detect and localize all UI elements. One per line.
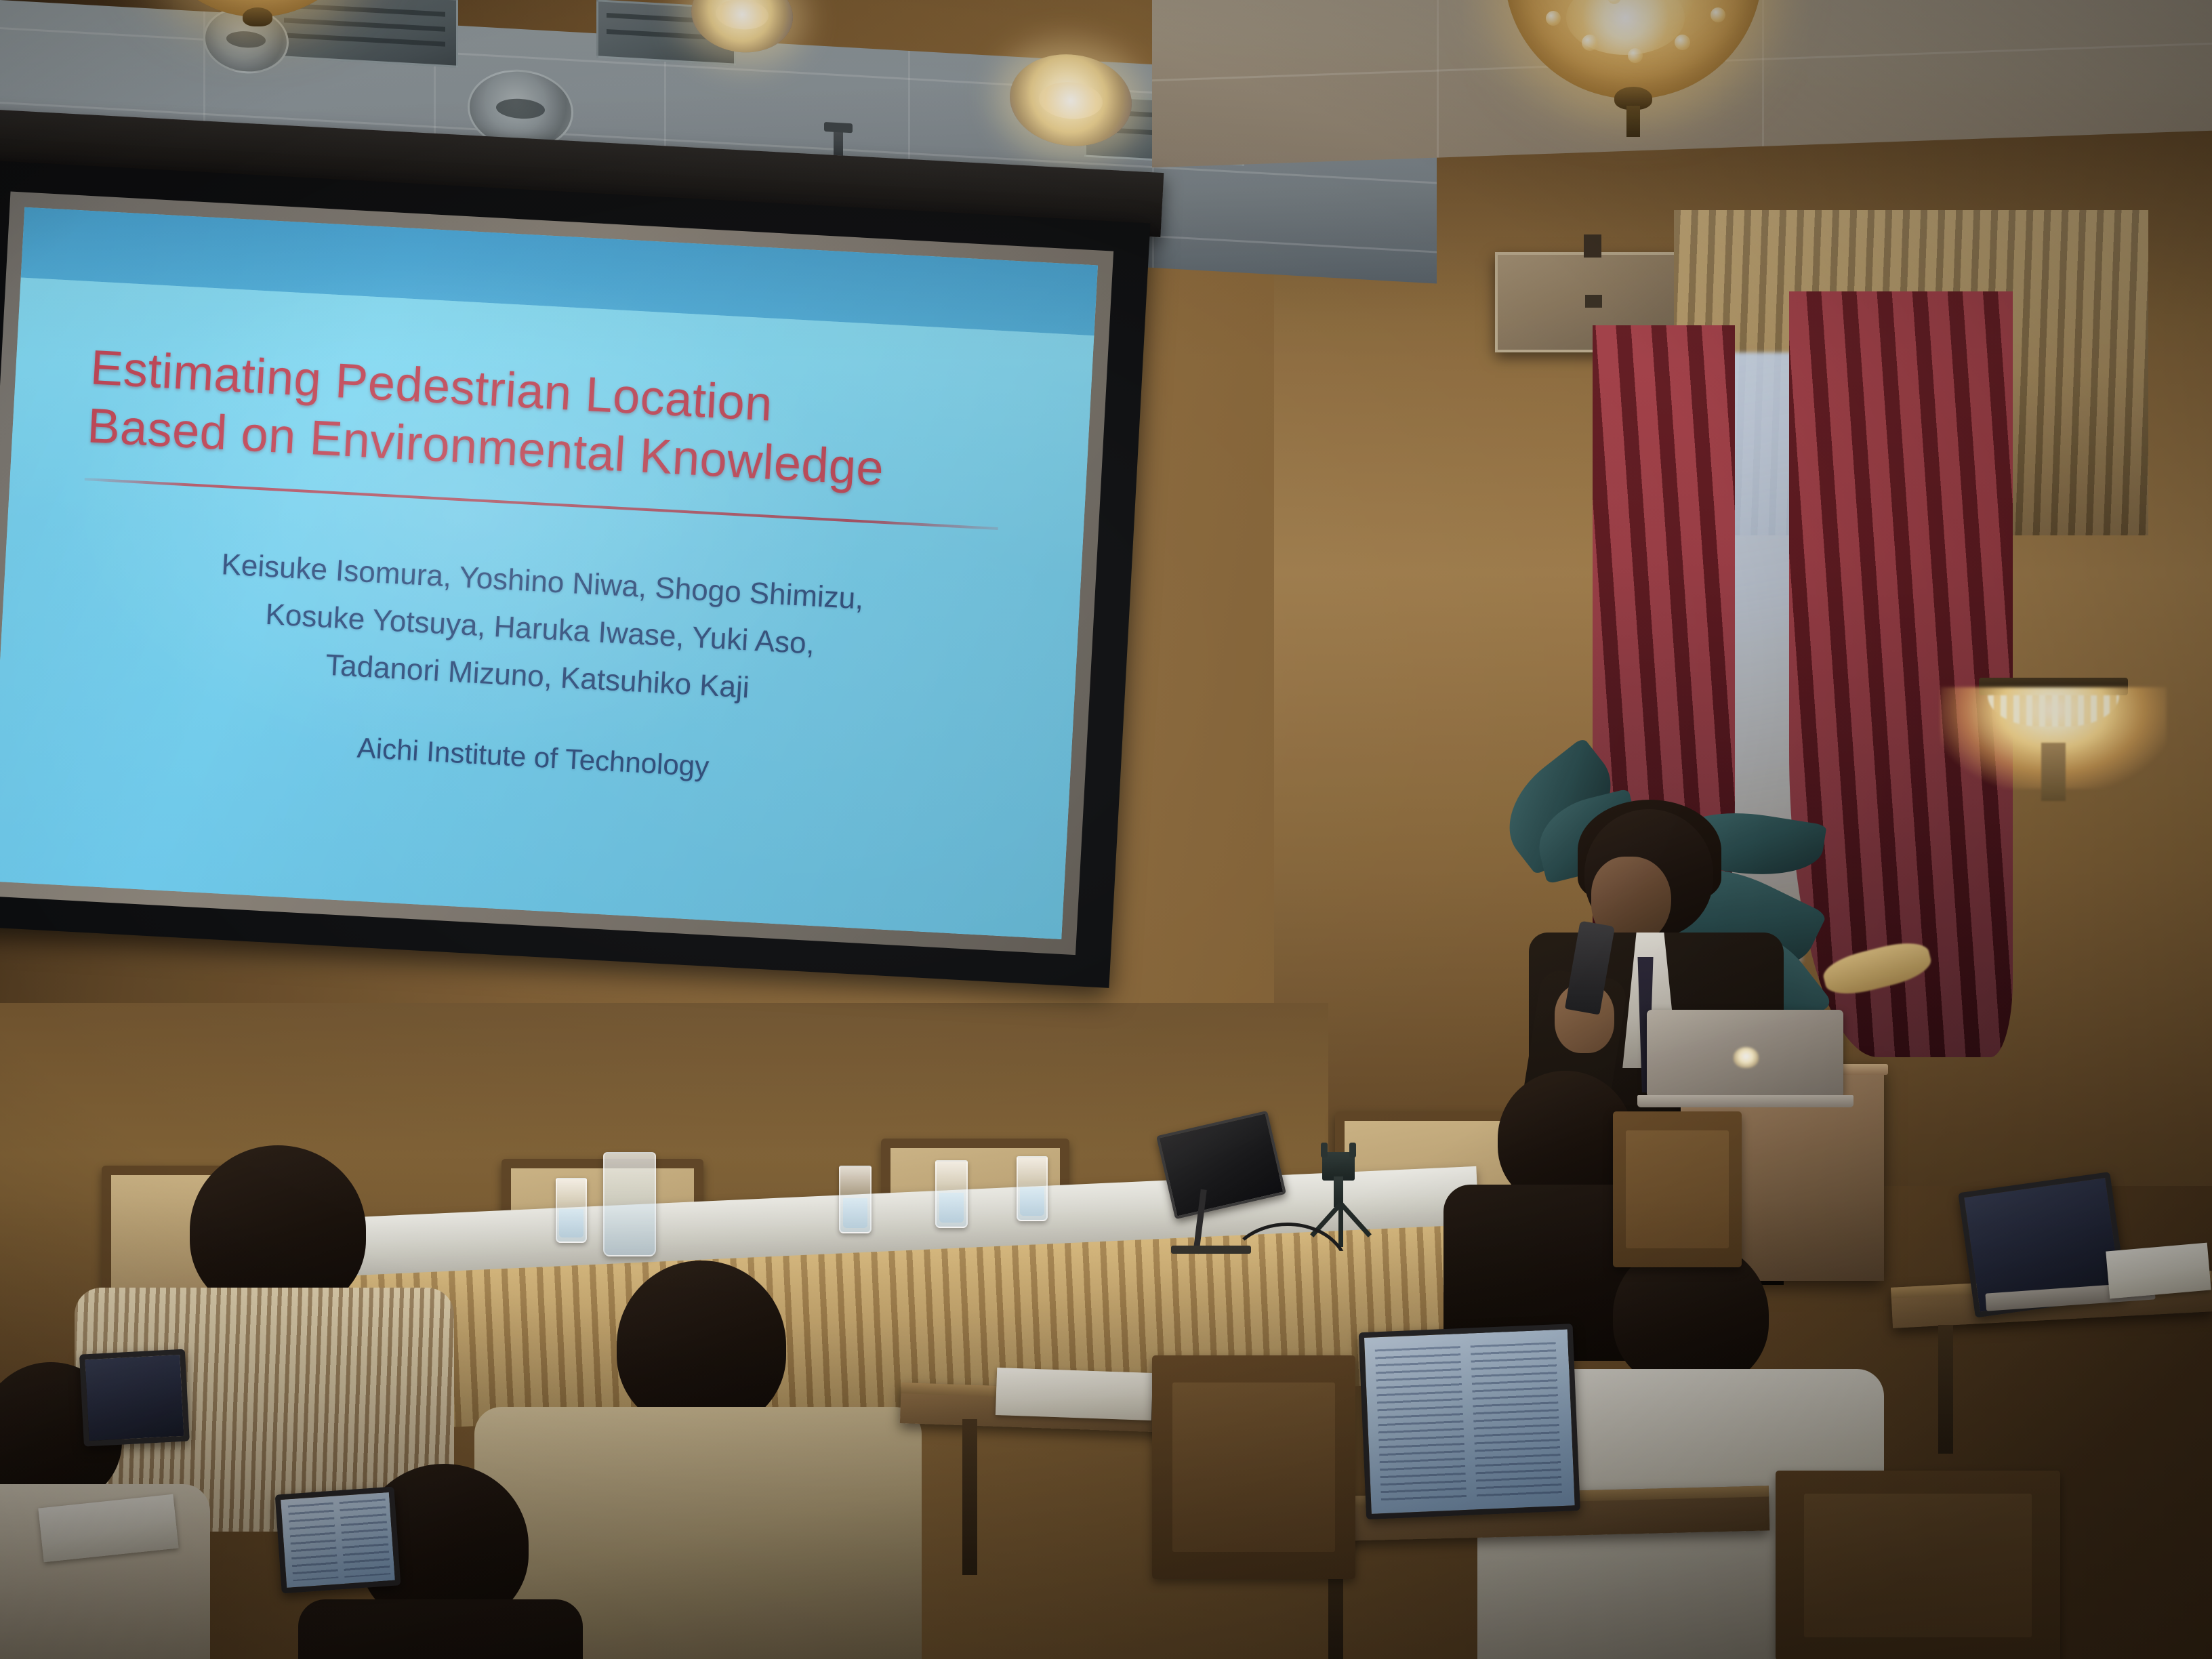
- chandelier-icon-right: [1491, 0, 1776, 149]
- attendee-body: [298, 1599, 583, 1659]
- audience-chair[interactable]: [1613, 1111, 1742, 1267]
- laptop-screen: [281, 1492, 395, 1588]
- laptop-left-2[interactable]: [275, 1488, 390, 1583]
- laptop-lid: [79, 1349, 190, 1447]
- conference-photo-scene: Estimating Pedestrian Location Based on …: [0, 0, 2212, 1659]
- curtain-right-panel: [1789, 291, 2013, 1057]
- audience-chair[interactable]: [1776, 1471, 2060, 1659]
- projection-screen-assembly: Estimating Pedestrian Location Based on …: [0, 102, 1179, 996]
- water-glass[interactable]: [839, 1166, 872, 1233]
- wall-sconce: [1979, 678, 2128, 813]
- laptop-lid: [275, 1486, 401, 1593]
- chandelier-icon-left: [142, 0, 373, 64]
- water-glass[interactable]: [935, 1160, 968, 1228]
- desk-leg: [962, 1419, 977, 1575]
- speaker-bracket: [1584, 234, 1601, 258]
- attendee-head: [617, 1261, 786, 1430]
- laptop-screen: [85, 1355, 184, 1441]
- paper-sheet: [996, 1368, 1153, 1420]
- slide-canvas: Estimating Pedestrian Location Based on …: [0, 207, 1098, 939]
- water-carafe[interactable]: [603, 1152, 656, 1256]
- water-glass[interactable]: [1017, 1156, 1048, 1221]
- laptop-center[interactable]: [1359, 1324, 1570, 1509]
- sconce-stem: [2041, 743, 2065, 801]
- paper-stack: [2106, 1243, 2211, 1299]
- tripod-leg: [1338, 1204, 1343, 1247]
- laptop-left[interactable]: [79, 1349, 178, 1435]
- audience-chair[interactable]: [1152, 1355, 1355, 1579]
- laptop-screen: [1364, 1329, 1575, 1513]
- laptop-lid: [1359, 1324, 1580, 1519]
- screen-silver-frame: Estimating Pedestrian Location Based on …: [0, 192, 1113, 956]
- water-glass[interactable]: [556, 1178, 587, 1243]
- tripod-leg: [1339, 1202, 1372, 1237]
- screen-black-frame: Estimating Pedestrian Location Based on …: [0, 160, 1150, 988]
- desk-leg: [1938, 1325, 1953, 1454]
- tablet-screen: [1156, 1111, 1286, 1219]
- apple-logo-icon: [1734, 1047, 1759, 1067]
